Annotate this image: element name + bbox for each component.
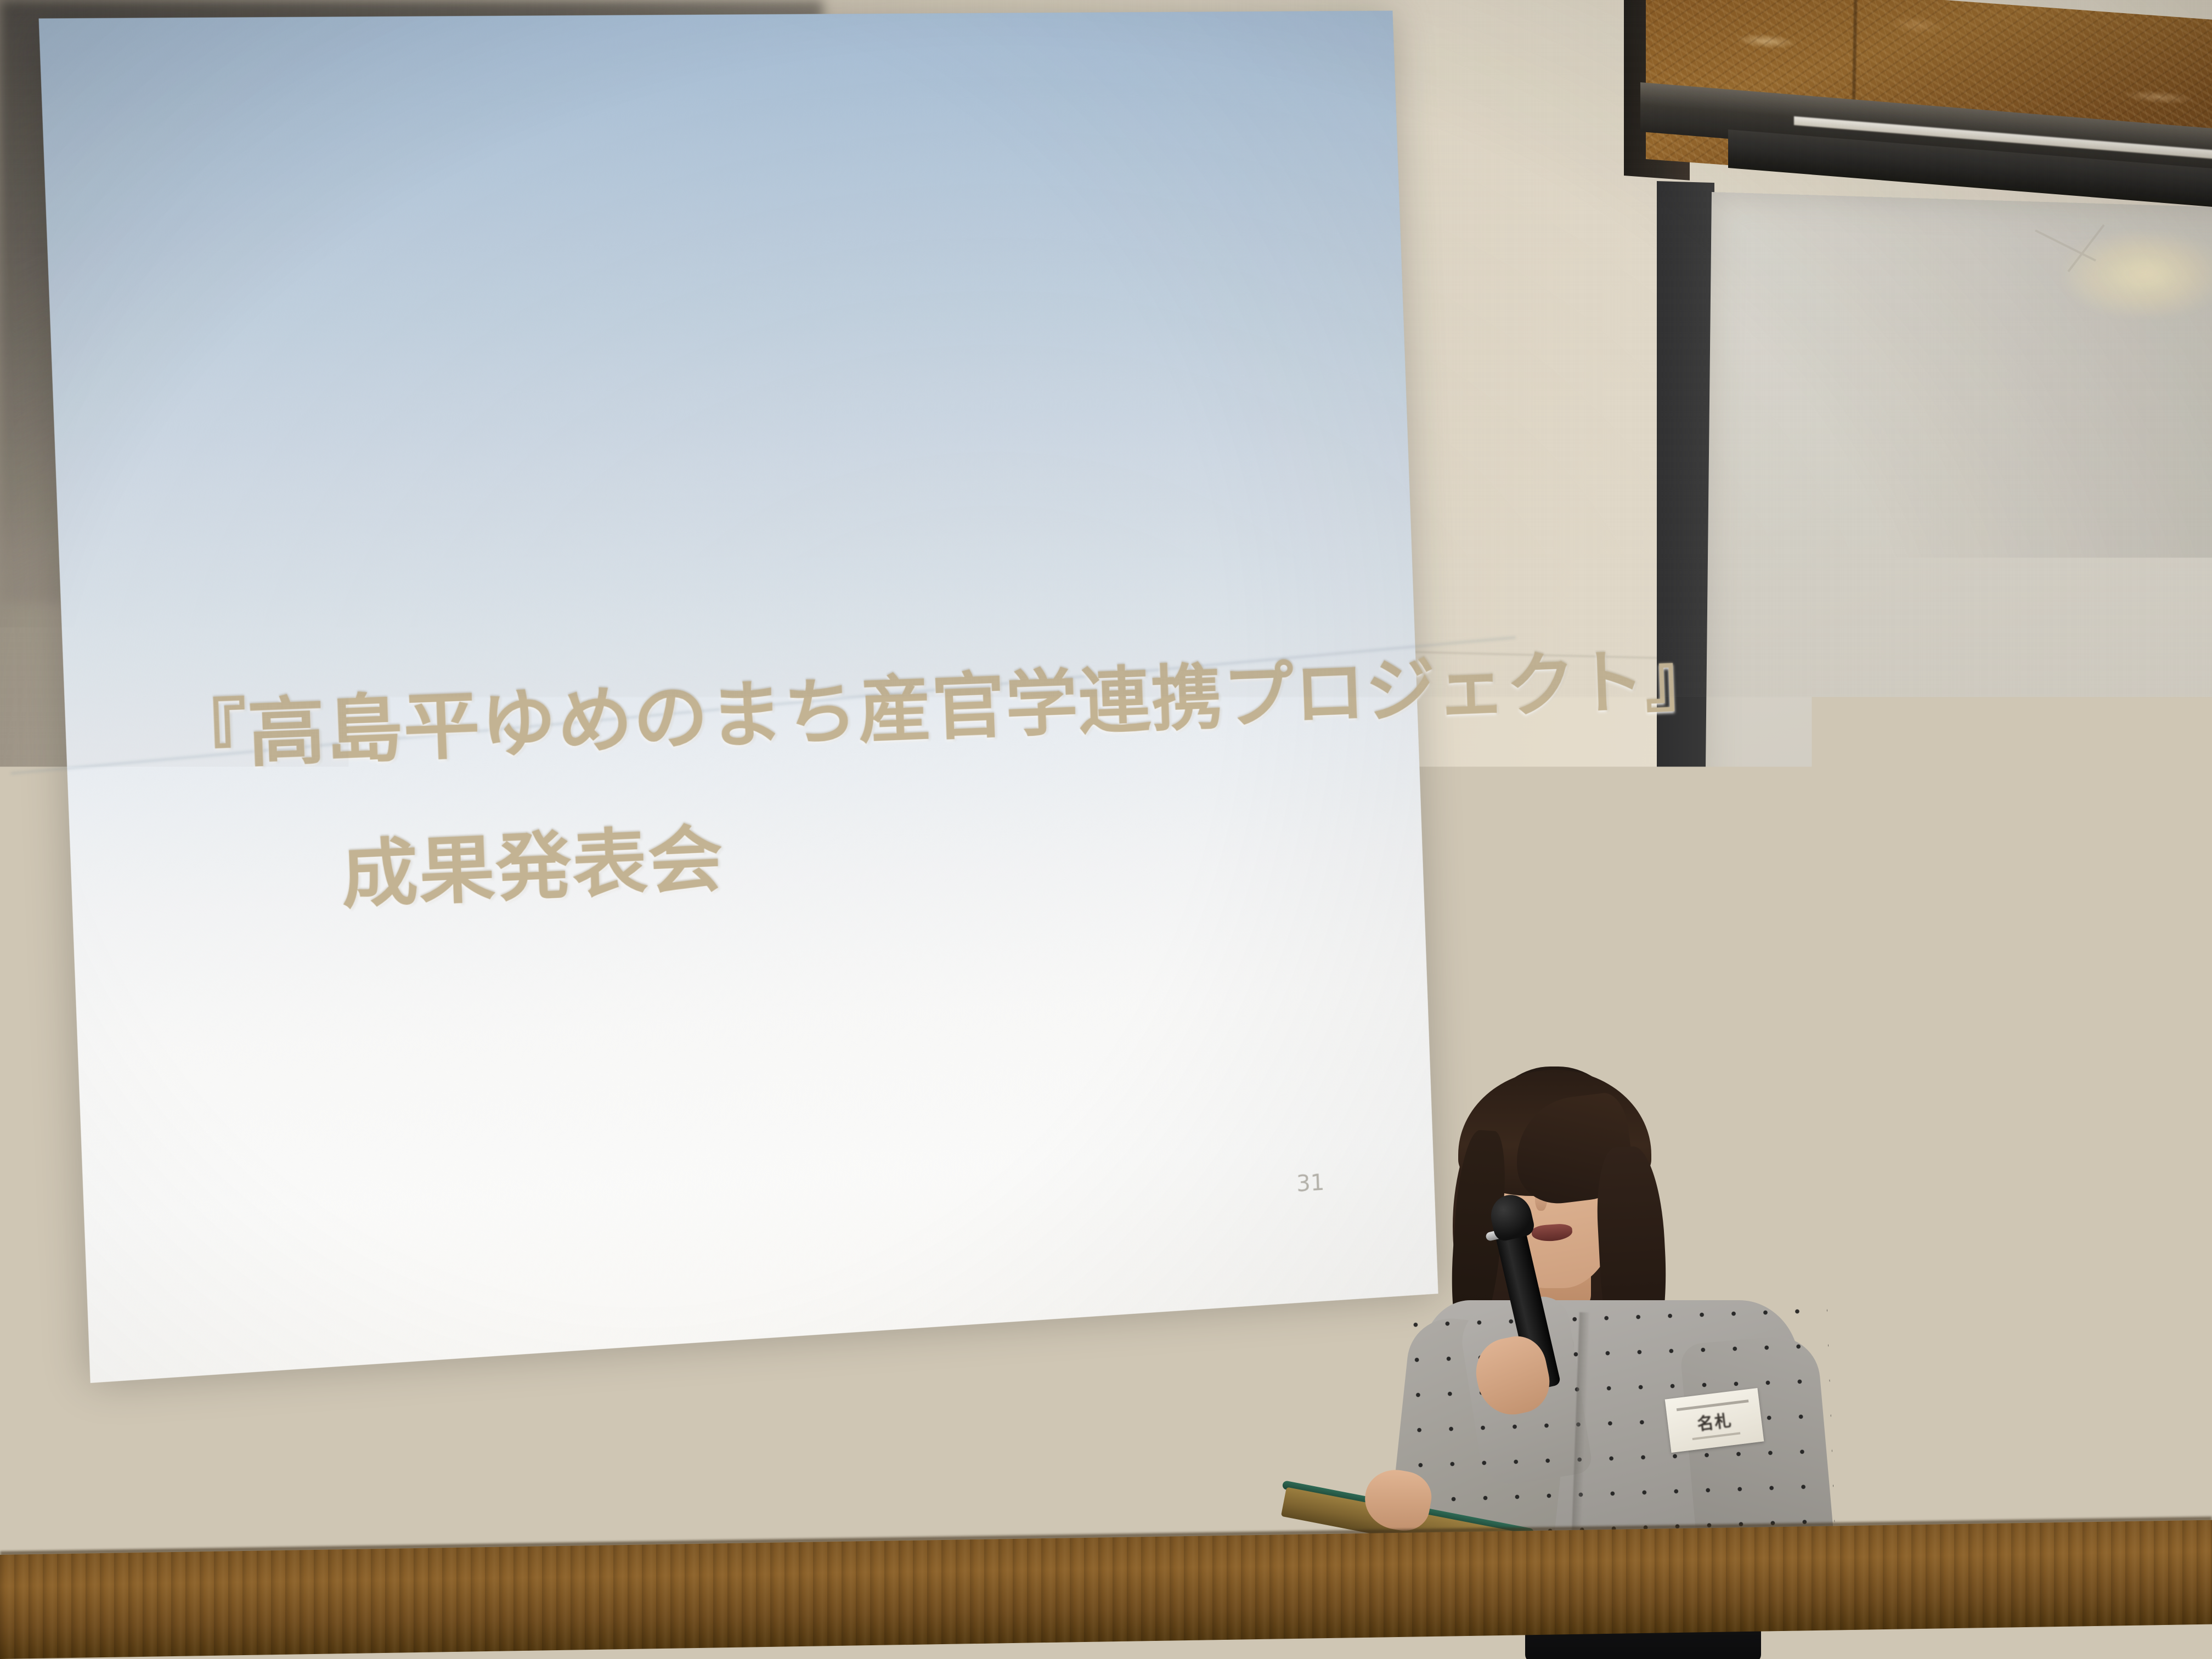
projected-slide: 『高島平ゆめのまち産官学連携プロジェクト』 成果発表会 31	[39, 10, 1438, 1383]
badge-name-text: 名札	[1696, 1407, 1734, 1435]
presentation-hall-photo: 『高島平ゆめのまち産官学連携プロジェクト』 成果発表会 31 名札	[0, 0, 2212, 1659]
screen-vignette	[39, 10, 1438, 1383]
presenter-name-badge: 名札	[1665, 1388, 1764, 1453]
whiteboard-scuff-mark	[2030, 219, 2172, 280]
projection-screen[interactable]: 『高島平ゆめのまち産官学連携プロジェクト』 成果発表会 31	[39, 10, 1438, 1383]
